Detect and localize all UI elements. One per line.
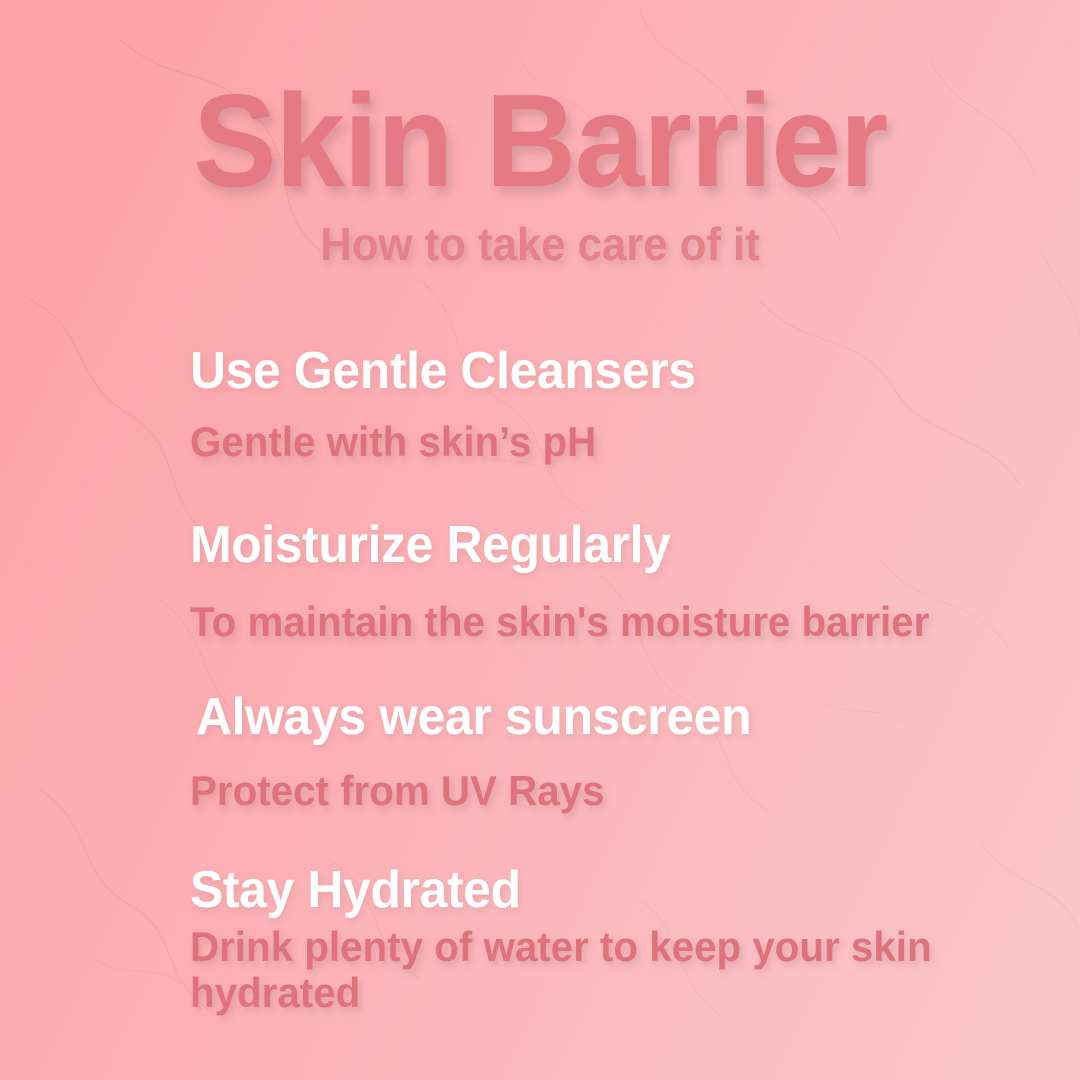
list-item: Always wear sunscreen Protect from UV Ra… — [0, 689, 1080, 813]
page-subtitle: How to take care of it — [27, 205, 1053, 267]
list-item: Use Gentle Cleansers Gentle with skin’s … — [0, 343, 1080, 465]
tip-title: Stay Hydrated — [190, 862, 1044, 918]
list-item: Stay Hydrated Drink plenty of water to k… — [0, 862, 1080, 1017]
tip-subtitle: To maintain the skin's moisture barrier — [190, 599, 1044, 645]
tips-list: Use Gentle Cleansers Gentle with skin’s … — [0, 267, 1080, 1017]
page-title: Skin Barrier — [27, 0, 1053, 205]
tip-title: Moisturize Regularly — [190, 517, 1044, 573]
poster-canvas: Skin Barrier How to take care of it Use … — [0, 0, 1080, 1080]
tip-title: Use Gentle Cleansers — [190, 343, 1044, 399]
tip-subtitle: Gentle with skin’s pH — [190, 419, 1044, 465]
list-item: Moisturize Regularly To maintain the ski… — [0, 517, 1080, 645]
tip-subtitle: Drink plenty of water to keep your skin … — [190, 924, 1044, 1016]
poster-content: Skin Barrier How to take care of it Use … — [0, 0, 1080, 1080]
poster-header: Skin Barrier How to take care of it — [0, 0, 1080, 267]
tip-title: Always wear sunscreen — [196, 689, 1045, 745]
tip-subtitle: Protect from UV Rays — [190, 768, 1044, 814]
